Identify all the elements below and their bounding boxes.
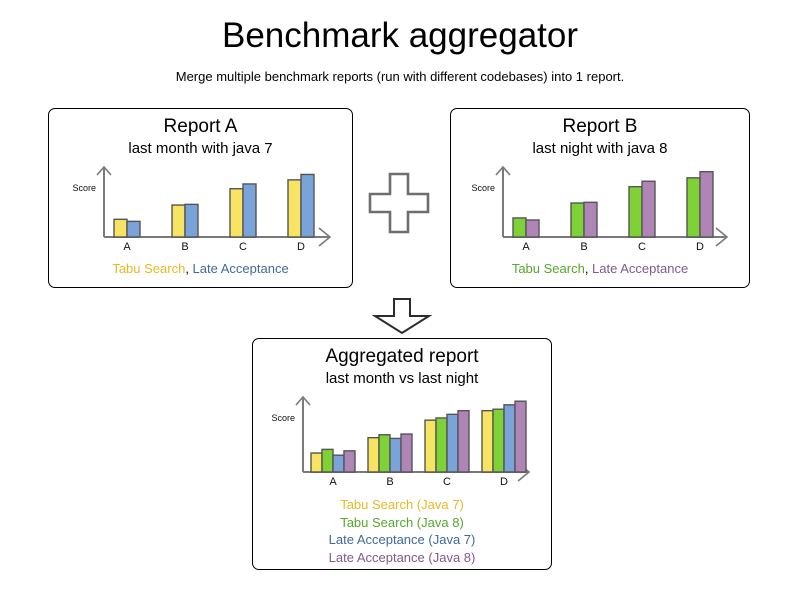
svg-text:Score: Score — [72, 183, 96, 193]
svg-text:A: A — [123, 241, 131, 253]
svg-text:C: C — [443, 476, 451, 488]
legend-item-late-acceptance-java-8: Late Acceptance (Java 8) — [253, 549, 551, 567]
legend-item-tabu-search-java-7: Tabu Search (Java 7) — [253, 496, 551, 514]
svg-text:Score: Score — [271, 413, 295, 423]
report-b-panel: Report B last night with java 8 ScoreABC… — [450, 108, 750, 288]
down-arrow-icon-svg — [372, 297, 432, 335]
aggregated-subtitle: last month vs last night — [253, 369, 551, 389]
svg-text:C: C — [239, 241, 247, 253]
plus-icon-svg — [366, 172, 432, 234]
legend-item-late-acceptance: Late Acceptance — [592, 261, 688, 276]
report-a-title: Report A — [49, 115, 352, 139]
page-title: Benchmark aggregator — [0, 16, 800, 56]
page-subtitle: Merge multiple benchmark reports (run wi… — [0, 68, 800, 86]
plus-icon — [366, 172, 432, 239]
legend-item-tabu-search: Tabu Search — [112, 261, 185, 276]
report-a-subtitle: last month with java 7 — [49, 139, 352, 159]
legend-item-late-acceptance: Late Acceptance — [193, 261, 289, 276]
legend-item-tabu-search: Tabu Search — [512, 261, 585, 276]
svg-text:D: D — [297, 241, 305, 253]
aggregated-chart: ScoreABCD — [253, 389, 551, 494]
legend-separator: , — [185, 261, 192, 276]
report-a-panel: Report A last month with java 7 ScoreABC… — [48, 108, 353, 288]
svg-text:D: D — [696, 241, 704, 253]
svg-text:A: A — [329, 476, 337, 488]
down-arrow-icon — [372, 297, 432, 340]
report-b-subtitle: last night with java 8 — [451, 139, 749, 159]
legend-item-tabu-search-java-8: Tabu Search (Java 8) — [253, 514, 551, 532]
legend-item-late-acceptance-java-7: Late Acceptance (Java 7) — [253, 531, 551, 549]
svg-text:B: B — [181, 241, 188, 253]
report-b-title: Report B — [451, 115, 749, 139]
report-a-chart: ScoreABCD — [49, 159, 352, 259]
svg-text:A: A — [522, 241, 530, 253]
svg-text:C: C — [638, 241, 646, 253]
report-a-chart-svg: ScoreABCD — [49, 159, 339, 259]
svg-text:B: B — [580, 241, 587, 253]
report-b-chart-svg: ScoreABCD — [451, 159, 736, 259]
aggregated-title: Aggregated report — [253, 345, 551, 369]
svg-text:Score: Score — [471, 183, 495, 193]
report-b-chart: ScoreABCD — [451, 159, 749, 259]
svg-text:B: B — [386, 476, 393, 488]
report-a-legend: Tabu Search, Late Acceptance — [49, 260, 352, 277]
aggregated-chart-svg: ScoreABCD — [253, 389, 538, 494]
aggregated-panel: Aggregated report last month vs last nig… — [252, 338, 552, 570]
report-b-legend: Tabu Search, Late Acceptance — [451, 260, 749, 277]
aggregated-legend: Tabu Search (Java 7)Tabu Search (Java 8)… — [253, 496, 551, 566]
legend-separator: , — [585, 261, 592, 276]
svg-text:D: D — [500, 476, 508, 488]
